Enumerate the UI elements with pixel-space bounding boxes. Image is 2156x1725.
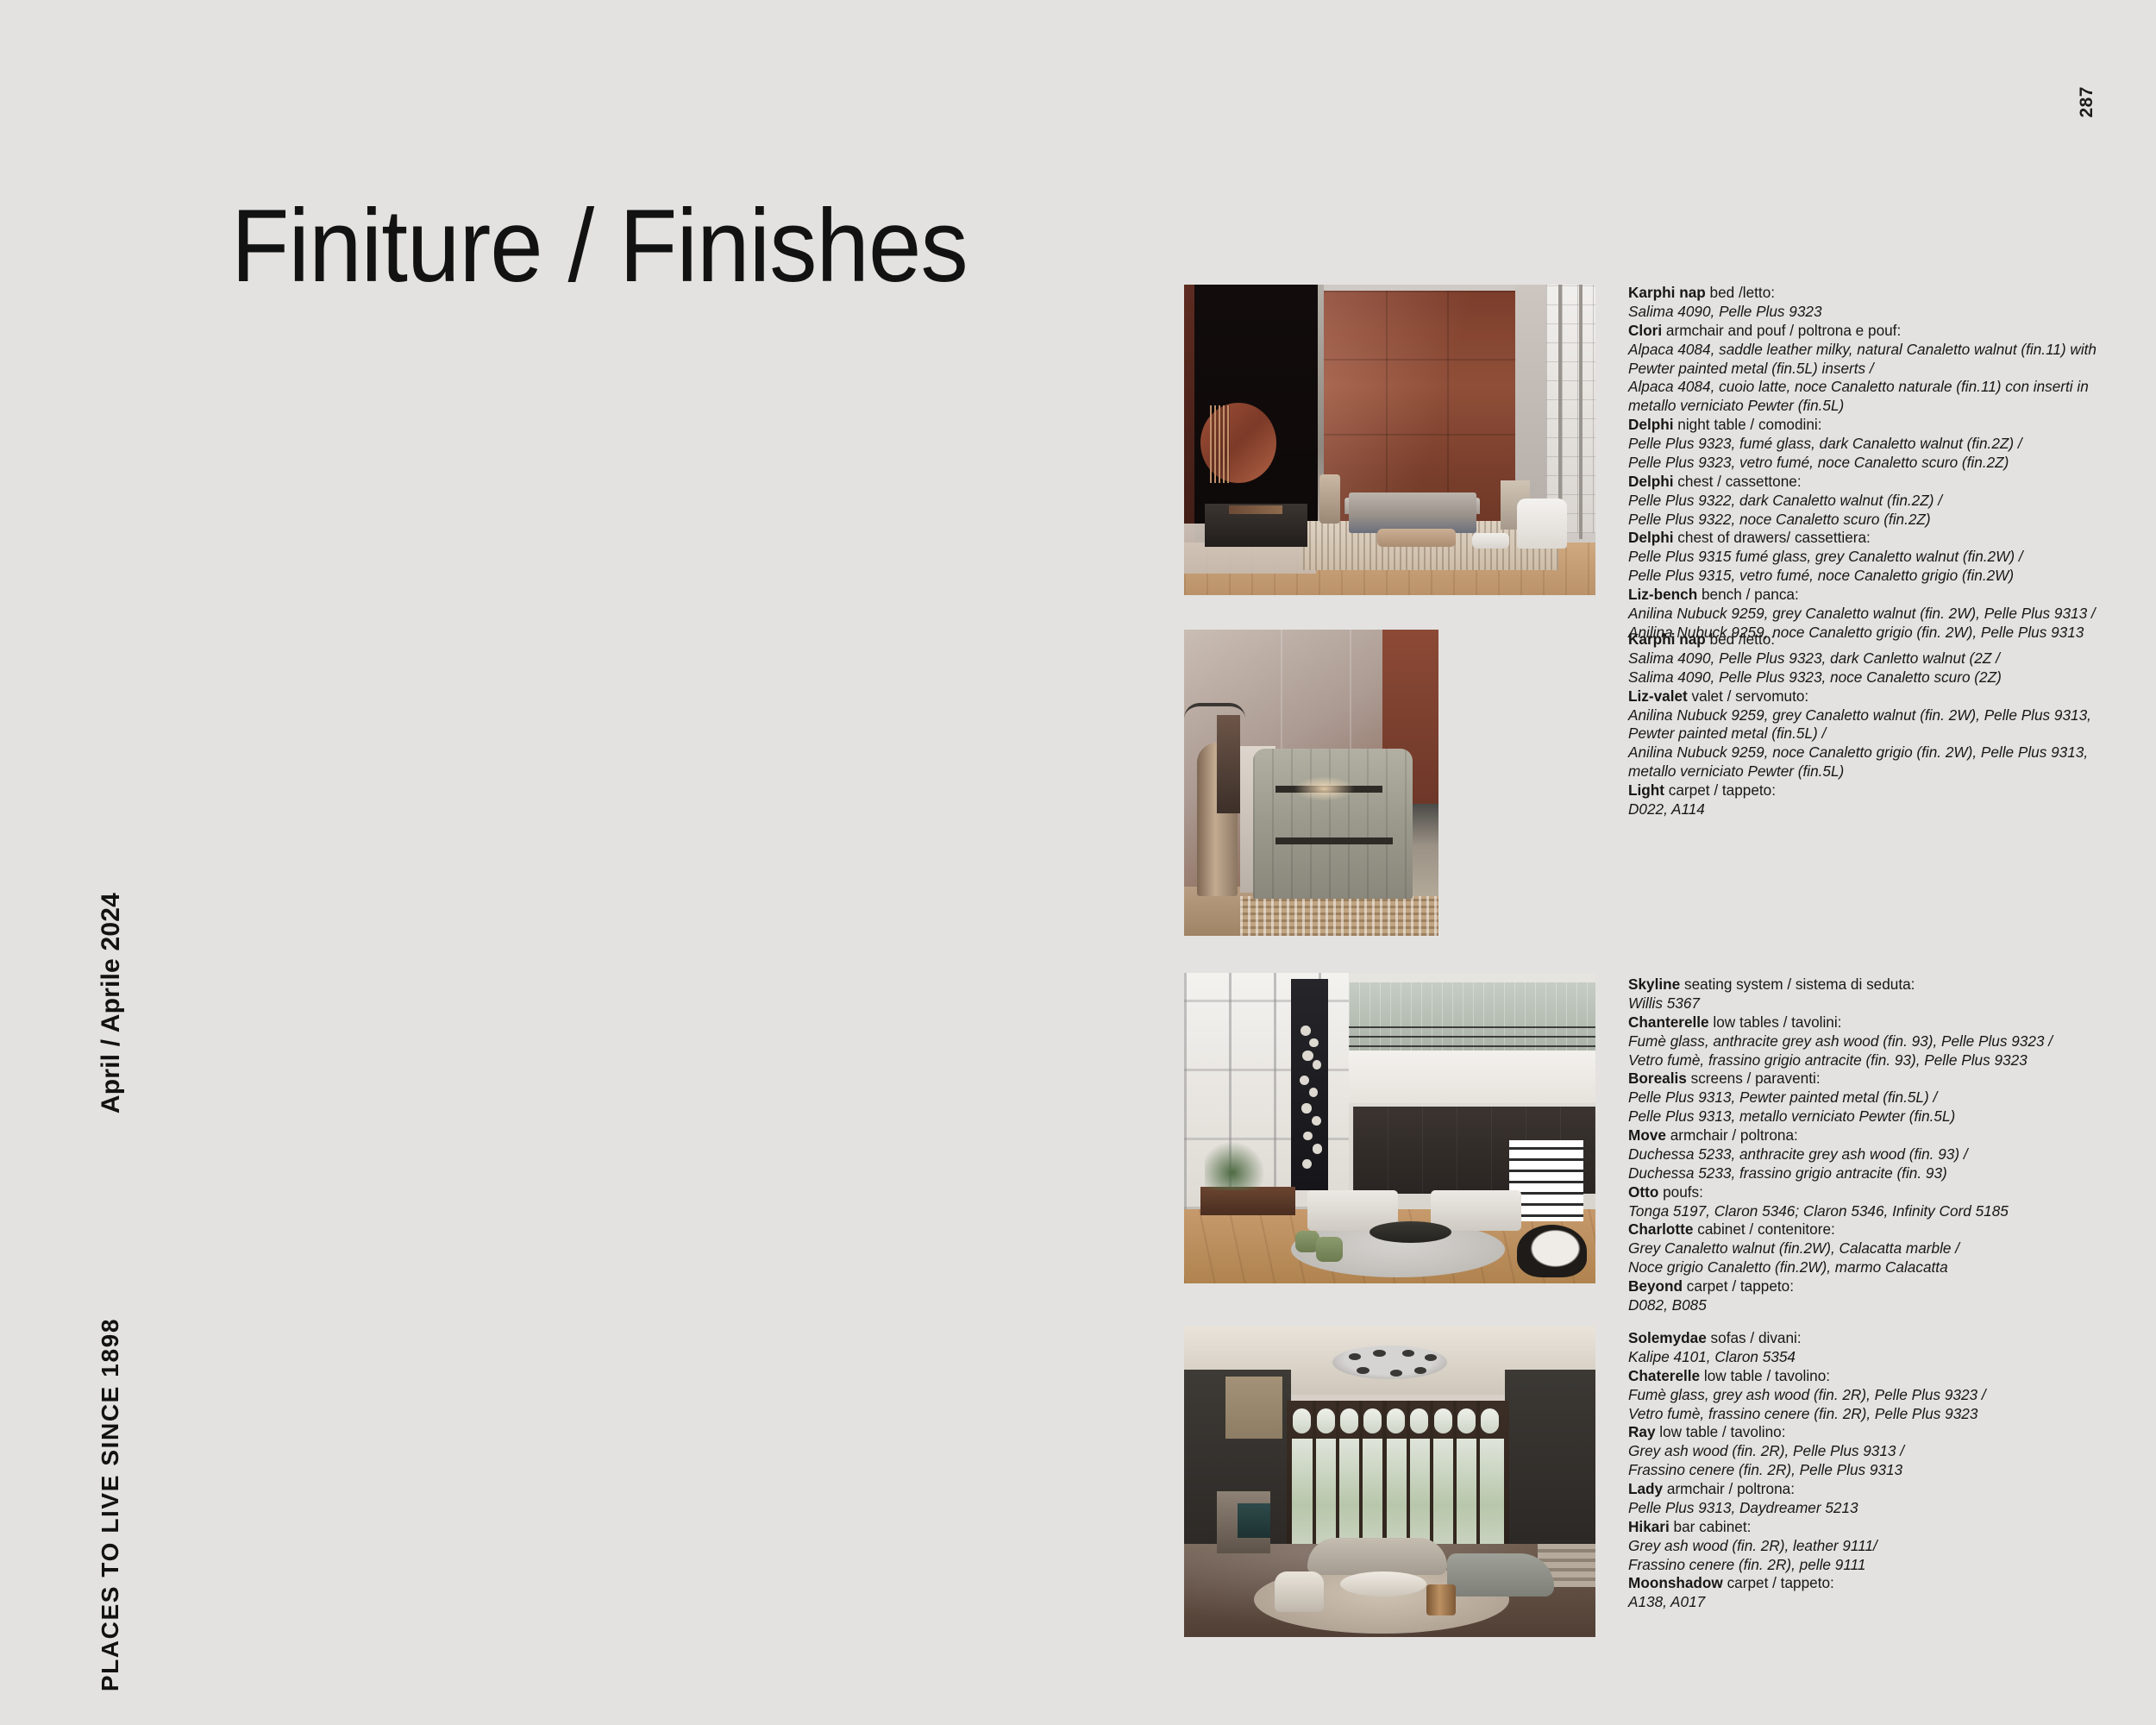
karphi-nap-bed — [1349, 492, 1476, 533]
caption-entry-line: Pewter painted metal (fin.5L) inserts / — [1628, 360, 2146, 379]
window-mullion — [1430, 1401, 1433, 1562]
caption-entry-line: Kalipe 4101, Claron 5354 — [1628, 1348, 2146, 1367]
ray-low-table — [1426, 1584, 1455, 1615]
caption-entry-line: Pelle Plus 9315 fumé glass, grey Canalet… — [1628, 548, 2146, 567]
woven-mat — [1240, 896, 1438, 936]
caption-entry-line: Pelle Plus 9315, vetro fumé, noce Canale… — [1628, 567, 2146, 586]
caption-entry-line: D082, B085 — [1628, 1296, 2146, 1315]
liz-bench — [1377, 529, 1456, 548]
section-caption-bedroom-rust-wall: Karphi nap bed /letto: Salima 4090, Pell… — [1628, 284, 2146, 643]
liz-valet — [1319, 474, 1340, 524]
caption-entry-line: Pelle Plus 9322, noce Canaletto scuro (f… — [1628, 511, 2146, 530]
move-armchair — [1517, 1225, 1587, 1277]
solemydae-sofa-curved — [1307, 1538, 1447, 1575]
caption-entry-head: Karphi nap bed /letto: — [1628, 630, 2146, 649]
window-wall — [1546, 285, 1595, 533]
arched-window-pane — [1340, 1408, 1358, 1433]
caption-entry-head: Chaterelle low table / tavolino: — [1628, 1367, 2146, 1386]
caption-entry-head: Liz-bench bench / panca: — [1628, 586, 2146, 605]
caption-entry-head: Liz-valet valet / servomuto: — [1628, 687, 2146, 706]
caption-entry-line: Frassino cenere (fin. 2R), Pelle Plus 93… — [1628, 1461, 2146, 1480]
shelf-light — [1294, 776, 1355, 800]
caption-entry-line: Willis 5367 — [1628, 994, 2146, 1013]
section-caption-liz-valet-detail: Karphi nap bed /letto: Salima 4090, Pell… — [1628, 630, 2146, 819]
caption-entry-line: Pelle Plus 9322, dark Canaletto walnut (… — [1628, 492, 2146, 511]
caption-entry-line: Vetro fumè, frassino grigio antracite (f… — [1628, 1051, 2146, 1070]
section-image-bedroom-rust-wall — [1184, 285, 1595, 595]
scene-valet-detail — [1184, 630, 1438, 936]
window-mullion — [1453, 1401, 1457, 1562]
section-image-loft-living-room — [1184, 973, 1595, 1283]
caption-entry-line: Frassino cenere (fin. 2R), pelle 9111 — [1628, 1556, 2146, 1575]
arched-window-pane — [1434, 1408, 1452, 1433]
chest-accessory — [1229, 505, 1282, 515]
caption-entry-head: Otto poufs: — [1628, 1183, 2146, 1202]
caption-entry-line: Pelle Plus 9313, Pewter painted metal (f… — [1628, 1088, 2146, 1107]
caption-entry-head: Borealis screens / paraventi: — [1628, 1069, 2146, 1088]
caption-entry-line: Anilina Nubuck 9259, noce Canaletto grig… — [1628, 743, 2146, 762]
caption-entry-line: metallo verniciato Pewter (fin.5L) — [1628, 397, 2146, 416]
dark-column — [1291, 979, 1328, 1190]
caption-entry-line: Pelle Plus 9323, fumé glass, dark Canale… — [1628, 435, 2146, 454]
section-image-liz-valet-detail — [1184, 630, 1438, 936]
light-hole — [1425, 1354, 1437, 1361]
wall-seam — [1318, 359, 1515, 361]
caption-entry-line: Pewter painted metal (fin.5L) / — [1628, 724, 2146, 743]
cabinet-glass-section — [1238, 1503, 1270, 1538]
skyline-sofa-right — [1431, 1190, 1521, 1231]
right-wall — [1505, 1370, 1595, 1562]
light-hole — [1414, 1367, 1426, 1374]
caption-entry-line: Vetro fumè, frassino cenere (fin. 2R), P… — [1628, 1405, 2146, 1424]
solemydae-sofa-right — [1447, 1553, 1554, 1596]
credenza — [1200, 1187, 1295, 1214]
caption-entry-head: Solemydae sofas / divani: — [1628, 1329, 2146, 1348]
scene-bedroom — [1184, 285, 1595, 595]
section-image-arched-window-lounge — [1184, 1327, 1595, 1637]
caption-entry-line: Grey ash wood (fin. 2R), Pelle Plus 9313… — [1628, 1442, 2146, 1461]
wall-plate-decor — [1302, 1051, 1313, 1061]
arched-window-pane — [1317, 1408, 1335, 1433]
caption-entry-head: Move armchair / poltrona: — [1628, 1126, 2146, 1145]
caption-entry-line: Anilina Nubuck 9259, grey Canaletto waln… — [1628, 706, 2146, 725]
caption-entry-line: metallo verniciato Pewter (fin.5L) — [1628, 762, 2146, 781]
scene-arched-lounge — [1184, 1327, 1595, 1637]
caption-entry-line: Pelle Plus 9313, Daydreamer 5213 — [1628, 1499, 2146, 1518]
wall-plate-decor — [1313, 1144, 1322, 1154]
caption-entry-line: Tonga 5197, Claron 5346; Claron 5346, In… — [1628, 1202, 2146, 1221]
potted-plant — [1205, 1140, 1267, 1190]
light-hole — [1357, 1367, 1369, 1374]
arched-window-pane — [1481, 1408, 1499, 1433]
caption-entry-line: Fumè glass, grey ash wood (fin. 2R), Pel… — [1628, 1386, 2146, 1405]
caption-entry-line: D022, A114 — [1628, 800, 2146, 819]
caption-entry-head: Ray low table / tavolino: — [1628, 1423, 2146, 1442]
mezzanine-railing — [1349, 1023, 1595, 1048]
caption-entry-line: Duchessa 5233, frassino grigio antracite… — [1628, 1164, 2146, 1183]
arched-window-pane — [1387, 1408, 1405, 1433]
upholstered-headboard — [1253, 749, 1413, 899]
wall-plate-decor — [1313, 1060, 1321, 1069]
caption-entry-head: Light carpet / tappeto: — [1628, 781, 2146, 800]
hanging-textile — [1217, 715, 1240, 813]
clori-pouf — [1472, 533, 1509, 549]
caption-entry-line: A138, A017 — [1628, 1593, 2146, 1612]
caption-entry-line: Alpaca 4084, cuoio latte, noce Canaletto… — [1628, 378, 2146, 397]
clori-armchair — [1517, 499, 1566, 549]
caption-entry-line: Pelle Plus 9323, vetro fumé, noce Canale… — [1628, 454, 2146, 473]
sections-container: Karphi nap bed /letto: Salima 4090, Pell… — [0, 0, 2156, 1725]
caption-entry-line: Noce grigio Canaletto (fin.2W), marmo Ca… — [1628, 1258, 2146, 1277]
section-caption-arched-window-lounge: Solemydae sofas / divani: Kalipe 4101, C… — [1628, 1329, 2146, 1612]
arched-window-pane — [1363, 1408, 1382, 1433]
light-hole — [1349, 1353, 1361, 1360]
lady-armchair — [1275, 1571, 1324, 1612]
caption-entry-head: Karphi nap bed /letto: — [1628, 284, 2146, 303]
window-mullion — [1579, 285, 1583, 539]
wall-plate-decor — [1301, 1103, 1311, 1113]
arched-window-pane — [1293, 1408, 1311, 1433]
caption-entry-line: Salima 4090, Pelle Plus 9323, noce Canal… — [1628, 668, 2146, 687]
wall-seam — [1318, 291, 1515, 292]
headboard-shelf — [1275, 837, 1393, 844]
arched-window-pane — [1457, 1408, 1476, 1433]
caption-entry-head: Skyline seating system / sistema di sedu… — [1628, 975, 2146, 994]
caption-entry-head: Clori armchair and pouf / poltrona e pou… — [1628, 322, 2146, 341]
window-mullion — [1313, 1401, 1316, 1562]
caption-entry-head: Delphi chest of drawers/ cassettiera: — [1628, 529, 2146, 548]
caption-entry-head: Delphi night table / comodini: — [1628, 416, 2146, 435]
caption-entry-line: Pelle Plus 9313, metallo verniciato Pewt… — [1628, 1107, 2146, 1126]
arched-window-pane — [1410, 1408, 1428, 1433]
caption-entry-line: Grey ash wood (fin. 2R), leather 9111/ — [1628, 1537, 2146, 1556]
caption-entry-head: Delphi chest / cassettone: — [1628, 473, 2146, 492]
caption-entry-head: Beyond carpet / tappeto: — [1628, 1277, 2146, 1296]
catalog-page: 287 Finiture / Finishes April / Aprile 2… — [0, 0, 2156, 1725]
caption-entry-head: Moonshadow carpet / tappeto: — [1628, 1574, 2146, 1593]
beige-wall-panel — [1225, 1377, 1283, 1439]
chanterelle-low-table — [1369, 1221, 1451, 1243]
scene-loft-living — [1184, 973, 1595, 1283]
caption-entry-head: Lady armchair / poltrona: — [1628, 1480, 2146, 1499]
section-caption-loft-living-room: Skyline seating system / sistema di sedu… — [1628, 975, 2146, 1315]
white-wall — [1340, 1051, 1595, 1103]
wall-seam — [1318, 434, 1515, 436]
caption-entry-head: Hikari bar cabinet: — [1628, 1518, 2146, 1537]
caption-entry-line: Salima 4090, Pelle Plus 9323, dark Canle… — [1628, 649, 2146, 668]
caption-entry-head: Charlotte cabinet / contenitore: — [1628, 1220, 2146, 1239]
caption-entry-line: Salima 4090, Pelle Plus 9323 — [1628, 303, 2146, 322]
wall-plate-decor — [1302, 1159, 1311, 1169]
caption-entry-line: Grey Canaletto walnut (fin.2W), Calacatt… — [1628, 1239, 2146, 1258]
window-mullion — [1476, 1401, 1480, 1562]
caption-entry-line: Duchessa 5233, anthracite grey ash wood … — [1628, 1145, 2146, 1164]
wall-plate-decor — [1303, 1132, 1312, 1141]
caption-entry-head: Chanterelle low tables / tavolini: — [1628, 1013, 2146, 1032]
caption-entry-line: Alpaca 4084, saddle leather milky, natur… — [1628, 341, 2146, 360]
otto-pouf — [1316, 1237, 1343, 1262]
artwork-bars — [1210, 405, 1231, 483]
caption-entry-line: Fumè glass, anthracite grey ash wood (fi… — [1628, 1032, 2146, 1051]
caption-entry-line: Anilina Nubuck 9259, grey Canaletto waln… — [1628, 605, 2146, 624]
